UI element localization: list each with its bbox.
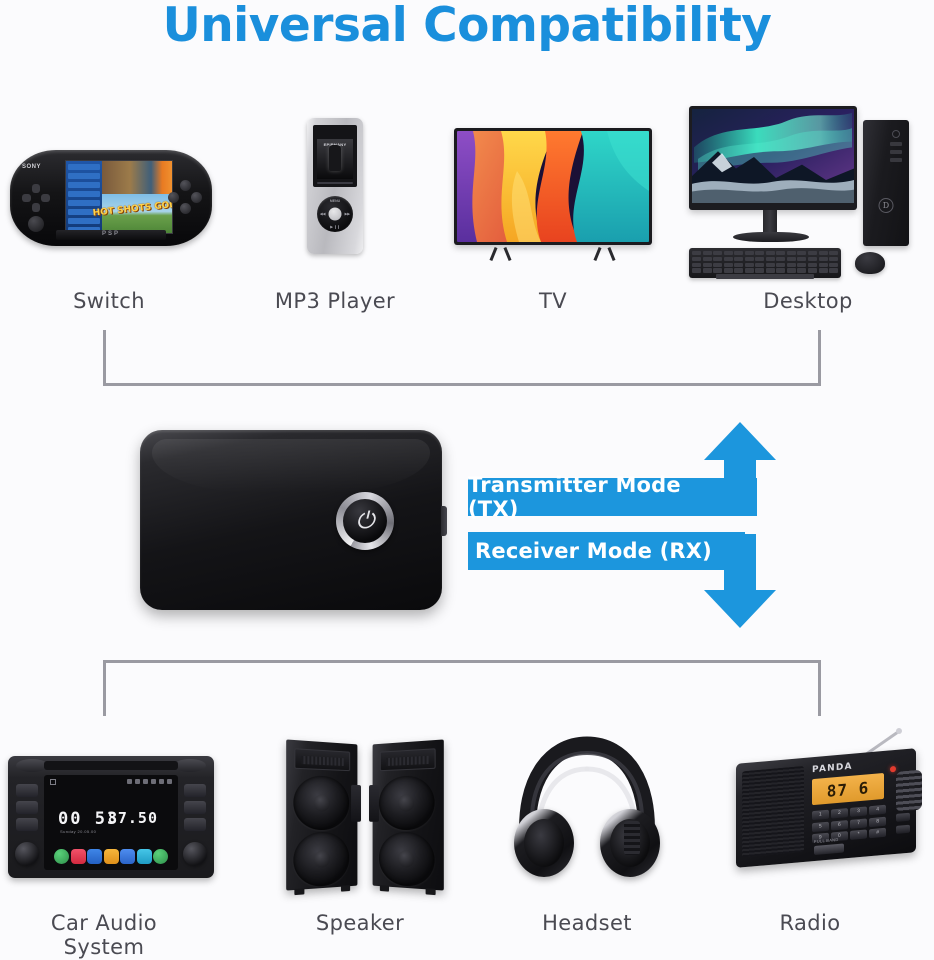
band-switch[interactable] [814,843,844,855]
speaker-top-panel [294,748,350,771]
side-port [441,506,447,536]
handheld-game-console-icon: SONY HOT SHOTS GOLF PSP [10,150,212,246]
device-car-audio: 00 53 Sunday 20.05.00 87.50 [0,748,222,890]
tower-ports [890,142,902,166]
device-mp3-player: EPIPHANY MENU◀◀▶▶▶ ❙❙ [245,112,425,264]
radio-frequency-display: 87.50 [108,809,158,827]
face-buttons-icon [168,180,202,214]
monitor-stand-neck [763,210,777,234]
psp-store-tiles [102,161,172,194]
app-icon-all-apps[interactable] [153,849,168,864]
monitor-stand-base [733,232,809,242]
power-button[interactable]: ⏻ [336,492,394,550]
app-icon-bluetooth[interactable] [137,849,152,864]
device-label-car-audio-line2: System [4,936,204,960]
status-bar-icons [127,779,172,784]
device-label-tv: TV [448,290,658,314]
keyboard-icon [689,248,841,278]
device-label-headset: Headset [502,912,672,936]
radio-lcd-display: 87 6 [812,773,884,805]
app-icon-music[interactable] [71,849,86,864]
power-led-indicator [890,766,896,773]
aurora-wallpaper [692,109,854,203]
device-label-car-audio: Car Audio System [4,912,204,959]
car-right-buttons[interactable] [184,784,206,835]
tv-wallpaper [457,131,649,242]
radio-frequency-value: 87 6 [827,778,870,801]
speaker-foot [294,888,304,895]
woofer-lower [293,832,349,888]
car-stereo-icon: 00 53 Sunday 20.05.00 87.50 [8,756,214,878]
device-tv [448,118,658,264]
bracket-top [103,330,821,386]
radio-brand-label: PANDA [812,762,853,776]
pc-tower-icon: D [863,120,909,246]
app-icon-video[interactable] [87,849,102,864]
home-icon[interactable] [50,779,56,785]
speaker-vent [369,785,379,822]
keypad-key[interactable]: 5 [812,821,829,831]
click-wheel-icon: MENU◀◀▶▶▶ ❙❙ [317,196,353,232]
car-knob-left[interactable] [15,842,39,866]
car-left-buttons[interactable] [16,784,38,835]
keypad-key[interactable]: * [850,829,867,839]
bluetooth-adapter-device: ⏻ [140,430,442,610]
device-label-mp3-player: MP3 Player [245,290,425,314]
keypad-key[interactable]: 6 [831,820,848,830]
keypad-key[interactable]: 1 [812,810,829,820]
keypad-key[interactable]: 7 [850,818,867,828]
woofer-lower [379,832,435,888]
mode-label-receiver: Receiver Mode (RX) [475,539,712,563]
speaker-foot2 [426,888,436,895]
woofer-upper [379,775,435,830]
cup-hinge-knurl [624,821,640,855]
tv-leg-left [489,247,497,261]
radio-band-label: FULL BAND [814,837,839,844]
mode-banner-receiver: Receiver Mode (RX) [468,532,745,570]
app-icon-radio[interactable] [104,849,119,864]
mp3-player-icon: EPIPHANY MENU◀◀▶▶▶ ❙❙ [307,118,363,254]
woofer-upper [293,775,349,831]
infographic-canvas: Universal Compatibility SONY HOT SHOTS G… [0,0,934,960]
device-label-switch: Switch [9,290,209,314]
portable-radio-icon: PANDA 87 6 1 2 3 4 5 6 7 8 9 0 * # FULL … [736,748,916,868]
device-label-desktop: Desktop [708,290,908,314]
keypad-key[interactable]: # [869,828,886,838]
keypad-key[interactable]: 2 [831,808,848,818]
psp-game-banner: HOT SHOTS GOLF [102,194,172,233]
device-headset [512,735,662,890]
tuning-knob[interactable] [896,770,922,812]
mode-arrows [698,420,782,630]
tv-screen [457,131,649,242]
keypad-key[interactable]: 3 [850,806,867,816]
power-icon: ⏻ [343,499,387,543]
tv-leg-right [593,247,601,261]
keypad-key[interactable]: 8 [869,816,886,826]
television-icon [454,128,652,245]
speaker-icon-left [286,739,357,890]
device-radio: PANDA 87 6 1 2 3 4 5 6 7 8 9 0 * # FULL … [722,722,928,892]
mode-banner-transmitter: Transmitter Mode (TX) [468,478,757,516]
car-stereo-screen[interactable]: 00 53 Sunday 20.05.00 87.50 [44,775,178,870]
album-art: EPIPHANY [317,139,353,179]
analog-stick-icon [28,216,44,232]
bracket-bottom [103,660,821,716]
car-top-slot [44,761,178,770]
keypad-key[interactable]: 4 [869,805,886,815]
speaker-foot2 [341,885,350,892]
app-icon-dvd[interactable] [120,849,135,864]
speaker-top-panel [380,748,436,771]
device-label-speaker: Speaker [275,912,445,936]
speaker-vent [351,785,361,822]
speaker-foot [380,885,389,892]
psp-bottom-bar: PSP [56,230,166,240]
psp-menu-list [66,161,102,233]
device-switch: SONY HOT SHOTS GOLF PSP [2,132,220,264]
mode-label-transmitter: Transmitter Mode (TX) [468,473,731,521]
playback-progress-bar [317,182,353,184]
monitor-icon [689,106,857,210]
page-title: Universal Compatibility [0,0,934,53]
date-display: Sunday 20.05.00 [60,829,96,834]
tv-leg-right2 [607,247,615,261]
app-icon-menu[interactable] [54,849,69,864]
mode-banner-group: Transmitter Mode (TX) Receiver Mode (RX) [462,420,782,630]
brand-logo: D [879,198,894,213]
device-label-radio: Radio [725,912,895,936]
dpad-icon [22,184,50,212]
psp-logo-text: PSP [102,231,120,237]
speaker-grille [742,766,804,857]
car-knob-right[interactable] [183,842,207,866]
device-label-car-audio-line1: Car Audio [4,912,204,936]
device-speaker [280,740,450,892]
speaker-icon-right [373,739,444,890]
tower-power-button[interactable] [892,130,900,138]
mouse-icon [855,252,885,274]
monitor-screen [692,109,854,203]
psp-game-title: HOT SHOTS GOLF [92,199,173,218]
app-shortcut-row[interactable] [54,849,168,864]
psp-screen: HOT SHOTS GOLF [65,160,173,234]
psp-brand-label: SONY [22,164,41,170]
car-bezel-right [174,759,206,772]
headphones-icon [512,735,662,885]
mp3-screen: EPIPHANY [313,125,357,187]
ear-cup-left [514,809,574,877]
device-desktop: D [683,100,913,282]
double-arrow-icon [698,420,782,630]
tv-leg-left2 [503,247,511,261]
